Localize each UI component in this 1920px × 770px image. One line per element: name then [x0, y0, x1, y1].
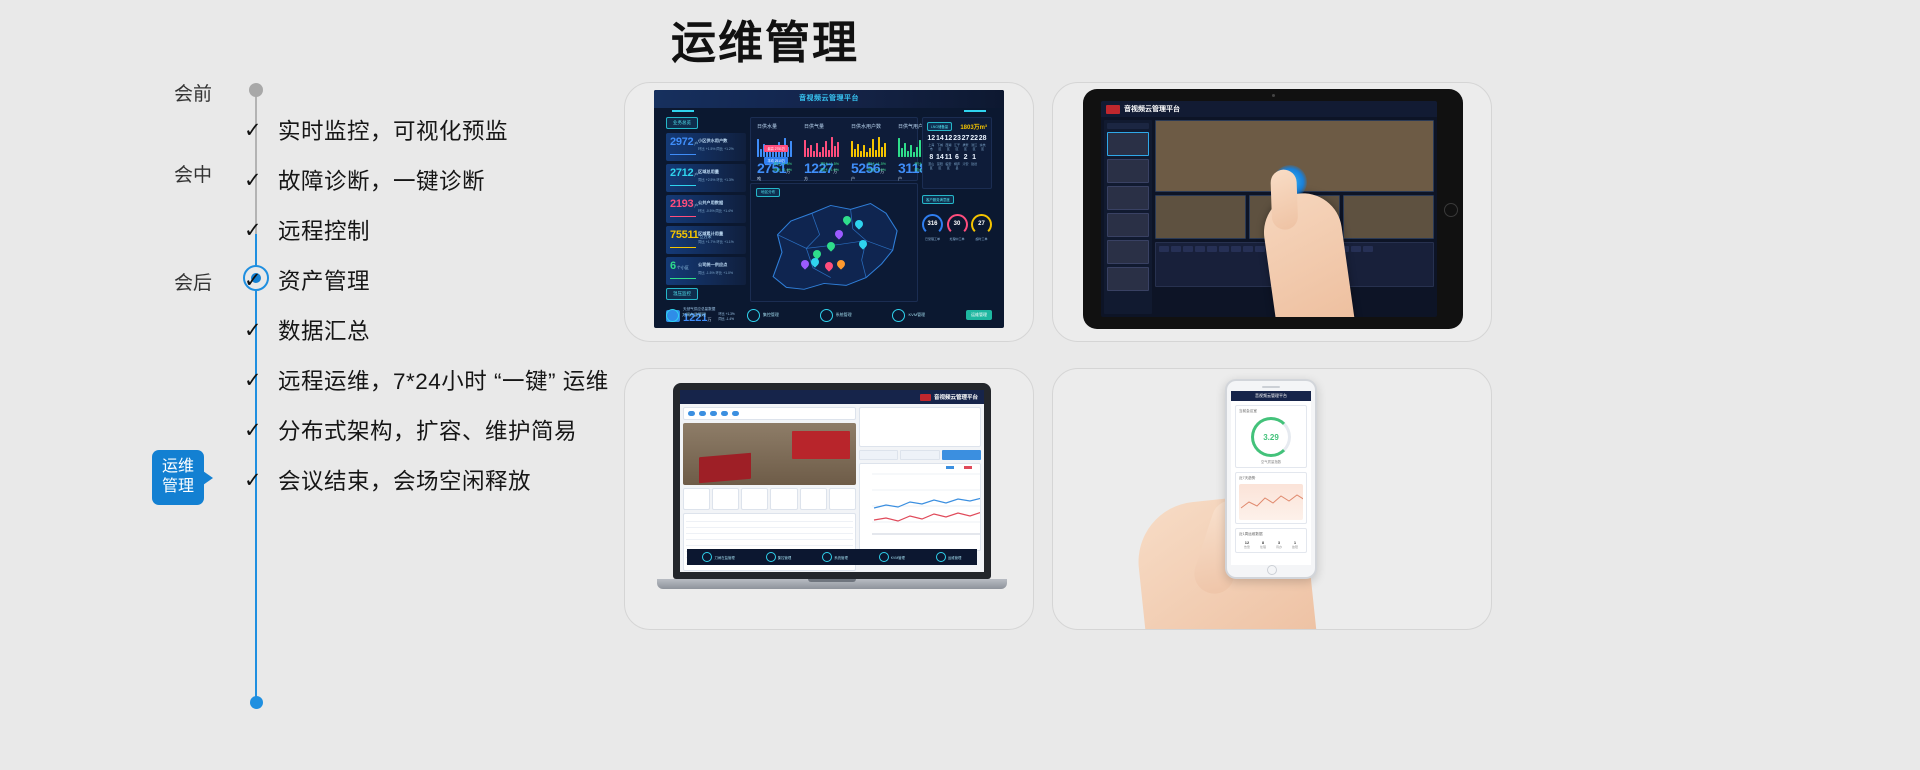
- gauge-label: 处理中工单: [947, 237, 968, 241]
- list-item: ✓ 会议结束，会场空闲释放: [244, 455, 644, 505]
- calendar-cell[interactable]: 8萧山区: [927, 154, 936, 170]
- room-thumbnail[interactable]: [1107, 186, 1149, 210]
- map-pin-icon[interactable]: [843, 216, 851, 226]
- stat-sparkbars: [804, 135, 839, 157]
- laptop-right-column: [859, 407, 981, 571]
- trend-chart: [1239, 484, 1303, 520]
- kpi-name: 小区供水用户数: [698, 138, 742, 144]
- mode-icon-3[interactable]: [741, 488, 768, 510]
- laptop-body: [680, 404, 984, 572]
- circle-icon: [892, 309, 905, 322]
- list-item: ✓ 数据汇总: [244, 305, 644, 355]
- gauge-value: 3.29: [1254, 433, 1288, 442]
- kpi-sub: 同比 -1.5% 环比 +1.0%: [698, 270, 742, 275]
- dashboard-screenshot: 音视频云管理平台 业务总览 2972户 小区供水用户数环比 +1.5% 同比 +…: [654, 90, 1004, 328]
- stats-card: 近1周运维数据 12告警 8处理 3待办 1故障: [1235, 528, 1307, 553]
- cloud-icon: [688, 411, 695, 416]
- stat-row: 日供水量 最高 2751万 平均 2510万 2751万吨 环比 +1.5%同比…: [750, 117, 918, 181]
- feature-checklist: ✓ 实时监控，可视化预监 ✓ 故障诊断，一键诊断 ✓ 远程控制 ✓ 资产管理 ✓…: [244, 105, 644, 505]
- check-icon: ✓: [244, 270, 278, 291]
- laptop-app-bar: 音视频云管理平台: [680, 390, 984, 404]
- footer-button[interactable]: KVM管理: [879, 552, 905, 562]
- gauge-card-title: 当前会议室: [1239, 409, 1303, 414]
- stat-delta-1: 环比 +1.5%: [821, 162, 839, 166]
- humidity-icon: [732, 411, 739, 416]
- laptop-lid: 音视频云管理平台: [673, 383, 991, 579]
- gauge-value: 316: [924, 221, 941, 227]
- video-preview-tile[interactable]: [1155, 195, 1246, 239]
- stat-delta-1: 环比 +1.5%: [774, 162, 792, 166]
- tab-device-type[interactable]: [900, 450, 939, 460]
- kpi-sub: 同比 +1.7% 环比 +1.1%: [698, 239, 742, 244]
- kpi-section-pill-2: 温压监控: [666, 288, 698, 300]
- mode-icon-1[interactable]: [683, 488, 710, 510]
- dashboard-kpi-column: 业务总览 2972户 小区供水用户数环比 +1.5% 同比 +1.2% 2712…: [666, 117, 746, 302]
- kpi-name: 公共户用数据: [698, 200, 742, 206]
- panel-card-tablet: 音视频云管理平台: [1052, 82, 1492, 342]
- gauge-label: 超时工单: [971, 237, 992, 241]
- stat-sparkbars: [851, 135, 886, 157]
- list-item: ✓ 分布式架构，扩容、维护简易: [244, 405, 644, 455]
- map-pin-icon[interactable]: [825, 262, 833, 272]
- gauge: 30 处理中工单: [947, 214, 968, 241]
- chart-tabs: [859, 450, 981, 460]
- check-icon: ✓: [244, 320, 278, 341]
- stat-label: 日供水用户数: [851, 123, 886, 130]
- kpi-card: 6个小区 公司统一供应点同比 -1.5% 环比 +1.0%: [666, 257, 746, 285]
- control-key[interactable]: [1183, 246, 1193, 252]
- tab-alarm-stats[interactable]: [942, 450, 981, 460]
- gauge-value: 30: [949, 221, 966, 227]
- phone-app-title: 音视频云管理平台: [1255, 393, 1287, 399]
- list-item: ✓ 故障诊断，一键诊断: [244, 155, 644, 205]
- circle-icon: [822, 552, 832, 562]
- dashboard-center: 日供水量 最高 2751万 平均 2510万 2751万吨 环比 +1.5%同比…: [750, 117, 918, 302]
- calendar-cell[interactable]: 28余杭区: [978, 135, 987, 151]
- stat-card: 日供气量 1227万方 环比 +1.5%同比 +1.5%: [798, 118, 845, 180]
- tablet-app-title: 音视频云管理平台: [1124, 104, 1180, 114]
- map-pin-icon[interactable]: [837, 260, 845, 270]
- footer-button-switch[interactable]: 刀闸在监管理: [666, 309, 706, 322]
- kpi-unit: 个小区: [677, 265, 689, 270]
- kpi-value: 2193: [670, 198, 693, 210]
- header-tick-right: [964, 110, 986, 112]
- map-pin-icon[interactable]: [811, 258, 819, 268]
- list-item-label: 故障诊断，一键诊断: [278, 164, 485, 196]
- dashboard-footer-nav: 刀闸在监管理 集控管理 系统管理 KVM管理 运维管理: [666, 306, 992, 324]
- kpi-sub: 同比 +2.5% 环比 +1.3%: [698, 177, 742, 182]
- phone-screen: 音视频云管理平台 当前会议室 3.29 空气质量指数 近7天趋势: [1231, 391, 1311, 565]
- thermometer-icon: [721, 411, 728, 416]
- footer-button-ops[interactable]: 运维管理: [966, 310, 992, 320]
- cloud-icon: [699, 411, 706, 416]
- panel-card-dashboard: 音视频云管理平台 业务总览 2972户 小区供水用户数环比 +1.5% 同比 +…: [624, 82, 1034, 342]
- gauge: 27 超时工单: [971, 214, 992, 241]
- tablet-device: 音视频云管理平台: [1083, 89, 1463, 329]
- control-key[interactable]: [1171, 246, 1181, 252]
- calendar-cell[interactable]: 2淳安: [961, 154, 970, 170]
- stat-sparkbars: 最高 2751万 平均 2510万: [757, 135, 792, 157]
- control-key[interactable]: [1231, 246, 1241, 252]
- home-button-icon[interactable]: [1444, 203, 1458, 217]
- stat-label: 日供气量: [804, 123, 839, 130]
- list-item-label: 远程控制: [278, 214, 370, 246]
- brand-logo-icon: [1106, 105, 1120, 114]
- line-chart: [859, 463, 981, 551]
- stat-delta-1: 环比 +1.5%: [868, 162, 886, 166]
- list-item-label: 分布式架构，扩容、维护简易: [278, 414, 577, 446]
- circle-icon: [879, 552, 889, 562]
- footer-button[interactable]: 运维管理: [936, 552, 962, 562]
- brand-logo-icon: [920, 394, 931, 401]
- control-key[interactable]: [1195, 246, 1205, 252]
- kpi-value: 2972: [670, 136, 693, 148]
- list-item-label: 远程运维，7*24小时 “一键” 运维: [278, 364, 609, 396]
- tablet-app-bar: 音视频云管理平台: [1101, 101, 1437, 117]
- calendar-cell[interactable]: 1建德: [970, 154, 979, 170]
- gauge-value: 27: [973, 221, 990, 227]
- control-key[interactable]: [1243, 246, 1253, 252]
- trend-card: 近7天趋势: [1235, 472, 1307, 524]
- timeline-stage-before[interactable]: 会前: [152, 79, 212, 106]
- kpi-card: 75511立方米 区域累计用量同比 +1.7% 环比 +1.1%: [666, 226, 746, 254]
- stat-card: 日供水量 最高 2751万 平均 2510万 2751万吨 环比 +1.5%同比…: [751, 118, 798, 180]
- list-item: ✓ 远程控制: [244, 205, 644, 255]
- calendar-cell[interactable]: 14下城区: [936, 135, 945, 151]
- map-widget[interactable]: 地区分布: [750, 183, 918, 302]
- check-icon: ✓: [244, 120, 278, 141]
- kpi-card: 2193户 公共户用数据环比 -0.5% 同比 +1.4%: [666, 195, 746, 223]
- timeline-badge-line1: 运维: [162, 458, 194, 475]
- list-item-label: 数据汇总: [278, 314, 370, 346]
- stat-tag-high: 最高 2751万: [764, 145, 788, 152]
- timeline-badge-line2: 管理: [162, 478, 194, 495]
- search-input[interactable]: [1107, 123, 1149, 129]
- list-item: ✓ 实时监控，可视化预监: [244, 105, 644, 155]
- laptop-app-title: 音视频云管理平台: [934, 393, 978, 401]
- trend-card-title: 近7天趋势: [1239, 476, 1303, 481]
- stat-cell: 8处理: [1255, 540, 1271, 549]
- timeline-stage-during[interactable]: 会中: [152, 160, 212, 187]
- control-key[interactable]: [1255, 246, 1265, 252]
- laptop-left-column: [683, 407, 856, 571]
- mode-icon-4[interactable]: [770, 488, 797, 510]
- stat-label: 日供水量: [757, 123, 792, 130]
- control-key[interactable]: [1351, 246, 1361, 252]
- kpi-sub: 环比 +1.5% 同比 +1.2%: [698, 146, 742, 151]
- room-thumbnail[interactable]: [1107, 267, 1149, 291]
- calendar-cell[interactable]: 12西湖区: [944, 135, 953, 151]
- stat-delta-2: 同比 +1.5%: [774, 168, 792, 172]
- calendar-total: 1803万m³: [960, 122, 987, 131]
- kpi-card: 2972户 小区供水用户数环比 +1.5% 同比 +1.2%: [666, 133, 746, 161]
- calendar-widget: LNG储备量 1803万m³ 12上海市 14下城区 12西湖区 23江干区 2…: [922, 117, 992, 189]
- list-item-label: 资产管理: [278, 264, 370, 296]
- control-key[interactable]: [1219, 246, 1229, 252]
- tab-device-status[interactable]: [859, 450, 898, 460]
- kpi-section-pill: 业务总览: [666, 117, 698, 129]
- map-pin-icon[interactable]: [827, 242, 835, 252]
- circle-icon: [666, 309, 679, 322]
- laptop-footer-nav: 刀闸在监管理 集控管理 系统管理 KVM管理 运维管理: [687, 549, 977, 565]
- list-item: ✓ 远程运维，7*24小时 “一键” 运维: [244, 355, 644, 405]
- circle-icon: [702, 552, 712, 562]
- check-icon: ✓: [244, 470, 278, 491]
- gauge-group: 316 已受理工单 30 处理中工单 27 超时工单: [922, 214, 992, 241]
- stat-delta-2: 同比 +1.5%: [868, 168, 886, 172]
- calendar-grid: 12上海市 14下城区 12西湖区 23江干区 27拱墅区 22滨江区 28余杭…: [927, 135, 987, 173]
- air-quality-gauge: 3.29: [1251, 417, 1291, 457]
- calendar-cell[interactable]: 22滨江区: [970, 135, 979, 151]
- kpi-sub: 环比 -0.5% 同比 +1.4%: [698, 208, 742, 213]
- page-title-text: 运维管理: [671, 6, 859, 71]
- summary-card: [859, 407, 981, 447]
- circle-icon: [936, 552, 946, 562]
- stat-card: 日供水用户数 5256万户 环比 +1.5%同比 +1.5%: [845, 118, 892, 180]
- phone-app-bar: 音视频云管理平台: [1231, 391, 1311, 401]
- phone-device: 音视频云管理平台 当前会议室 3.29 空气质量指数 近7天趋势: [1225, 379, 1317, 579]
- calendar-cell[interactable]: 12上海市: [927, 135, 936, 151]
- timeline-dot-bottom: [250, 696, 263, 709]
- gauge-label: 已受理工单: [922, 237, 943, 241]
- laptop-base: [657, 579, 1007, 589]
- cloud-icon: [710, 411, 717, 416]
- map-pin-icon[interactable]: [801, 260, 809, 270]
- calendar-cell[interactable]: 11临安区: [944, 154, 953, 170]
- room-thumbnail[interactable]: [1107, 132, 1149, 156]
- timeline-stage-after[interactable]: 会后: [152, 268, 212, 295]
- stat-cell: 12告警: [1239, 540, 1255, 549]
- circle-icon: [747, 309, 760, 322]
- timeline-badge-ops[interactable]: 运维 管理: [152, 450, 204, 505]
- phone-scene: 音视频云管理平台 当前会议室 3.29 空气质量指数 近7天趋势: [1053, 369, 1491, 629]
- calendar-cell[interactable]: 27拱墅区: [961, 135, 970, 151]
- control-key[interactable]: [1363, 246, 1373, 252]
- footer-button-kvm[interactable]: KVM管理: [892, 309, 925, 322]
- check-icon: ✓: [244, 220, 278, 241]
- meeting-room-photo[interactable]: [683, 423, 856, 485]
- control-key[interactable]: [1207, 246, 1217, 252]
- gauge-card: 当前会议室 3.29 空气质量指数: [1235, 405, 1307, 468]
- kpi-name: 区域总用量: [698, 169, 742, 175]
- footer-button-system[interactable]: 系统管理: [820, 309, 852, 322]
- dashboard-title: 音视频云管理平台: [654, 93, 1004, 103]
- footer-button[interactable]: 刀闸在监管理: [702, 552, 734, 562]
- list-item-label: 会议结束，会场空闲释放: [278, 464, 531, 496]
- speaker-icon: [1262, 386, 1280, 388]
- calendar-pill: LNG储备量: [927, 122, 952, 131]
- stat-delta-2: 同比 +1.5%: [821, 168, 839, 172]
- timeline-dot-top: [249, 83, 263, 97]
- laptop-screen: 音视频云管理平台: [680, 390, 984, 572]
- kpi-name: 公司统一供应点: [698, 262, 742, 268]
- dashboard-right-column: LNG储备量 1803万m³ 12上海市 14下城区 12西湖区 23江干区 2…: [922, 117, 992, 302]
- gauge-section-pill: 客户服务满意度: [922, 195, 954, 204]
- line-chart-svg: [860, 464, 981, 550]
- gauge-caption: 空气质量指数: [1239, 459, 1303, 464]
- footer-button-cluster[interactable]: 集控管理: [747, 309, 779, 322]
- tablet-sidebar: [1104, 120, 1152, 314]
- list-item-label: 实时监控，可视化预监: [278, 114, 508, 146]
- trend-chart-svg: [1239, 484, 1303, 520]
- calendar-cell[interactable]: 6桐庐县: [953, 154, 962, 170]
- home-button-icon[interactable]: [1267, 565, 1277, 575]
- kpi-value: 6: [670, 260, 676, 272]
- kpi-card: 2712户 区域总用量同比 +2.5% 环比 +1.3%: [666, 164, 746, 192]
- panel-card-phone: 音视频云管理平台 当前会议室 3.29 空气质量指数 近7天趋势: [1052, 368, 1492, 630]
- room-thumbnail[interactable]: [1107, 213, 1149, 237]
- map-pin-icon[interactable]: [855, 220, 863, 230]
- video-preview-tile[interactable]: [1343, 195, 1434, 239]
- map-pill: 地区分布: [756, 188, 780, 197]
- check-icon: ✓: [244, 170, 278, 191]
- panel-card-laptop: 音视频云管理平台: [624, 368, 1034, 630]
- mode-icon-row: [683, 488, 856, 510]
- kpi-value: 2712: [670, 167, 693, 179]
- gauge: 316 已受理工单: [922, 214, 943, 241]
- control-key[interactable]: [1159, 246, 1169, 252]
- stats-row: 12告警 8处理 3待办 1故障: [1239, 540, 1303, 549]
- header-tick-left: [672, 110, 694, 112]
- check-icon: ✓: [244, 370, 278, 391]
- stats-card-title: 近1周运维数据: [1239, 532, 1303, 537]
- circle-icon: [820, 309, 833, 322]
- kpi-value: 75511: [670, 229, 698, 241]
- circle-icon: [766, 552, 776, 562]
- room-thumbnail[interactable]: [1107, 240, 1149, 264]
- stat-cell: 3待办: [1271, 540, 1287, 549]
- calendar-cell[interactable]: 14富阳区: [936, 154, 945, 170]
- calendar-cell[interactable]: 23江干区: [953, 135, 962, 151]
- camera-icon: [1272, 94, 1275, 97]
- map-pin-icon[interactable]: [835, 230, 843, 240]
- tablet-screen: 音视频云管理平台: [1101, 101, 1437, 317]
- check-icon: ✓: [244, 420, 278, 441]
- footer-button[interactable]: 集控管理: [766, 552, 792, 562]
- map-pin-icon[interactable]: [859, 240, 867, 250]
- kpi-name: 区域累计用量: [698, 231, 742, 237]
- list-item: ✓ 资产管理: [244, 255, 644, 305]
- room-thumbnail[interactable]: [1107, 159, 1149, 183]
- mode-icon-6[interactable]: [829, 488, 856, 510]
- stat-cell: 1故障: [1287, 540, 1303, 549]
- weather-strip: [683, 407, 856, 420]
- footer-button[interactable]: 系统管理: [822, 552, 848, 562]
- slide-root: 运维管理 会前 会中 会后 运维 管理 ✓ 实时监控，可视化预监 ✓ 故障诊断，…: [0, 0, 1920, 770]
- mode-icon-2[interactable]: [712, 488, 739, 510]
- laptop-device: 音视频云管理平台: [673, 383, 991, 605]
- mode-icon-5[interactable]: [800, 488, 827, 510]
